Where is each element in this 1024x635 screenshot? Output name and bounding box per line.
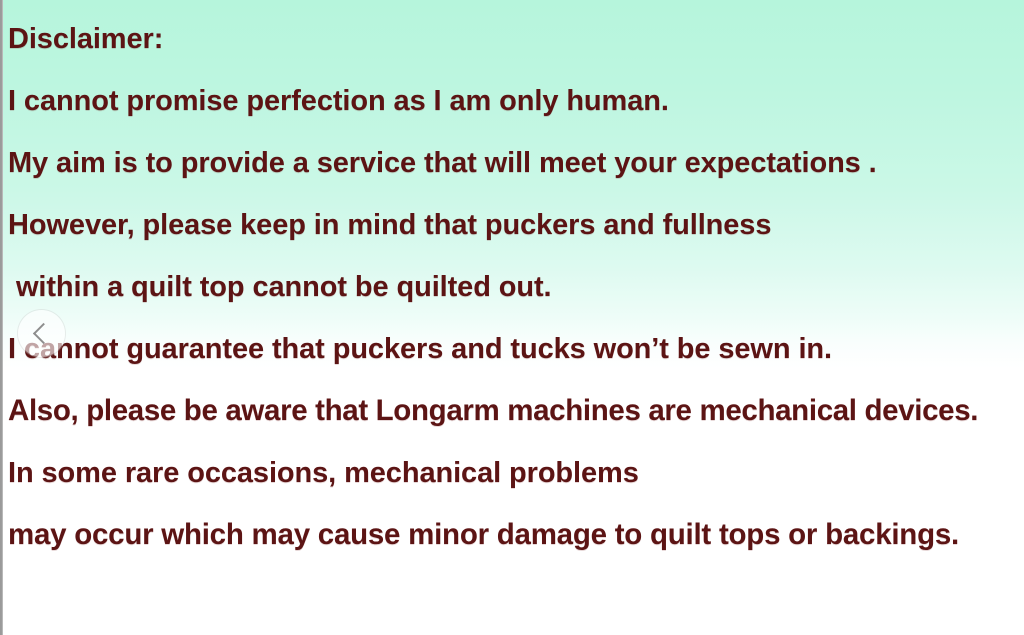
previous-slide-button[interactable] (18, 310, 65, 357)
slide-line-8: may occur which may cause minor damage t… (8, 504, 1022, 566)
slide-line-4: within a quilt top cannot be quilted out… (8, 256, 1022, 318)
slide-line-heading: Disclaimer: (8, 8, 1022, 70)
image-slide-viewer: Disclaimer: I cannot promise perfection … (0, 0, 1024, 635)
slide-text-block: Disclaimer: I cannot promise perfection … (8, 8, 1022, 566)
slide-line-6: Also, please be aware that Longarm machi… (8, 380, 1022, 442)
chevron-left-icon (33, 323, 54, 344)
slide-line-1: I cannot promise perfection as I am only… (8, 70, 1022, 132)
left-edge-strip (0, 0, 3, 635)
slide-canvas: Disclaimer: I cannot promise perfection … (3, 0, 1024, 635)
slide-line-5: I cannot guarantee that puckers and tuck… (8, 318, 1022, 380)
slide-line-3: However, please keep in mind that pucker… (8, 194, 1022, 256)
slide-line-7: In some rare occasions, mechanical probl… (8, 442, 1022, 504)
slide-line-2: My aim is to provide a service that will… (8, 132, 1022, 194)
